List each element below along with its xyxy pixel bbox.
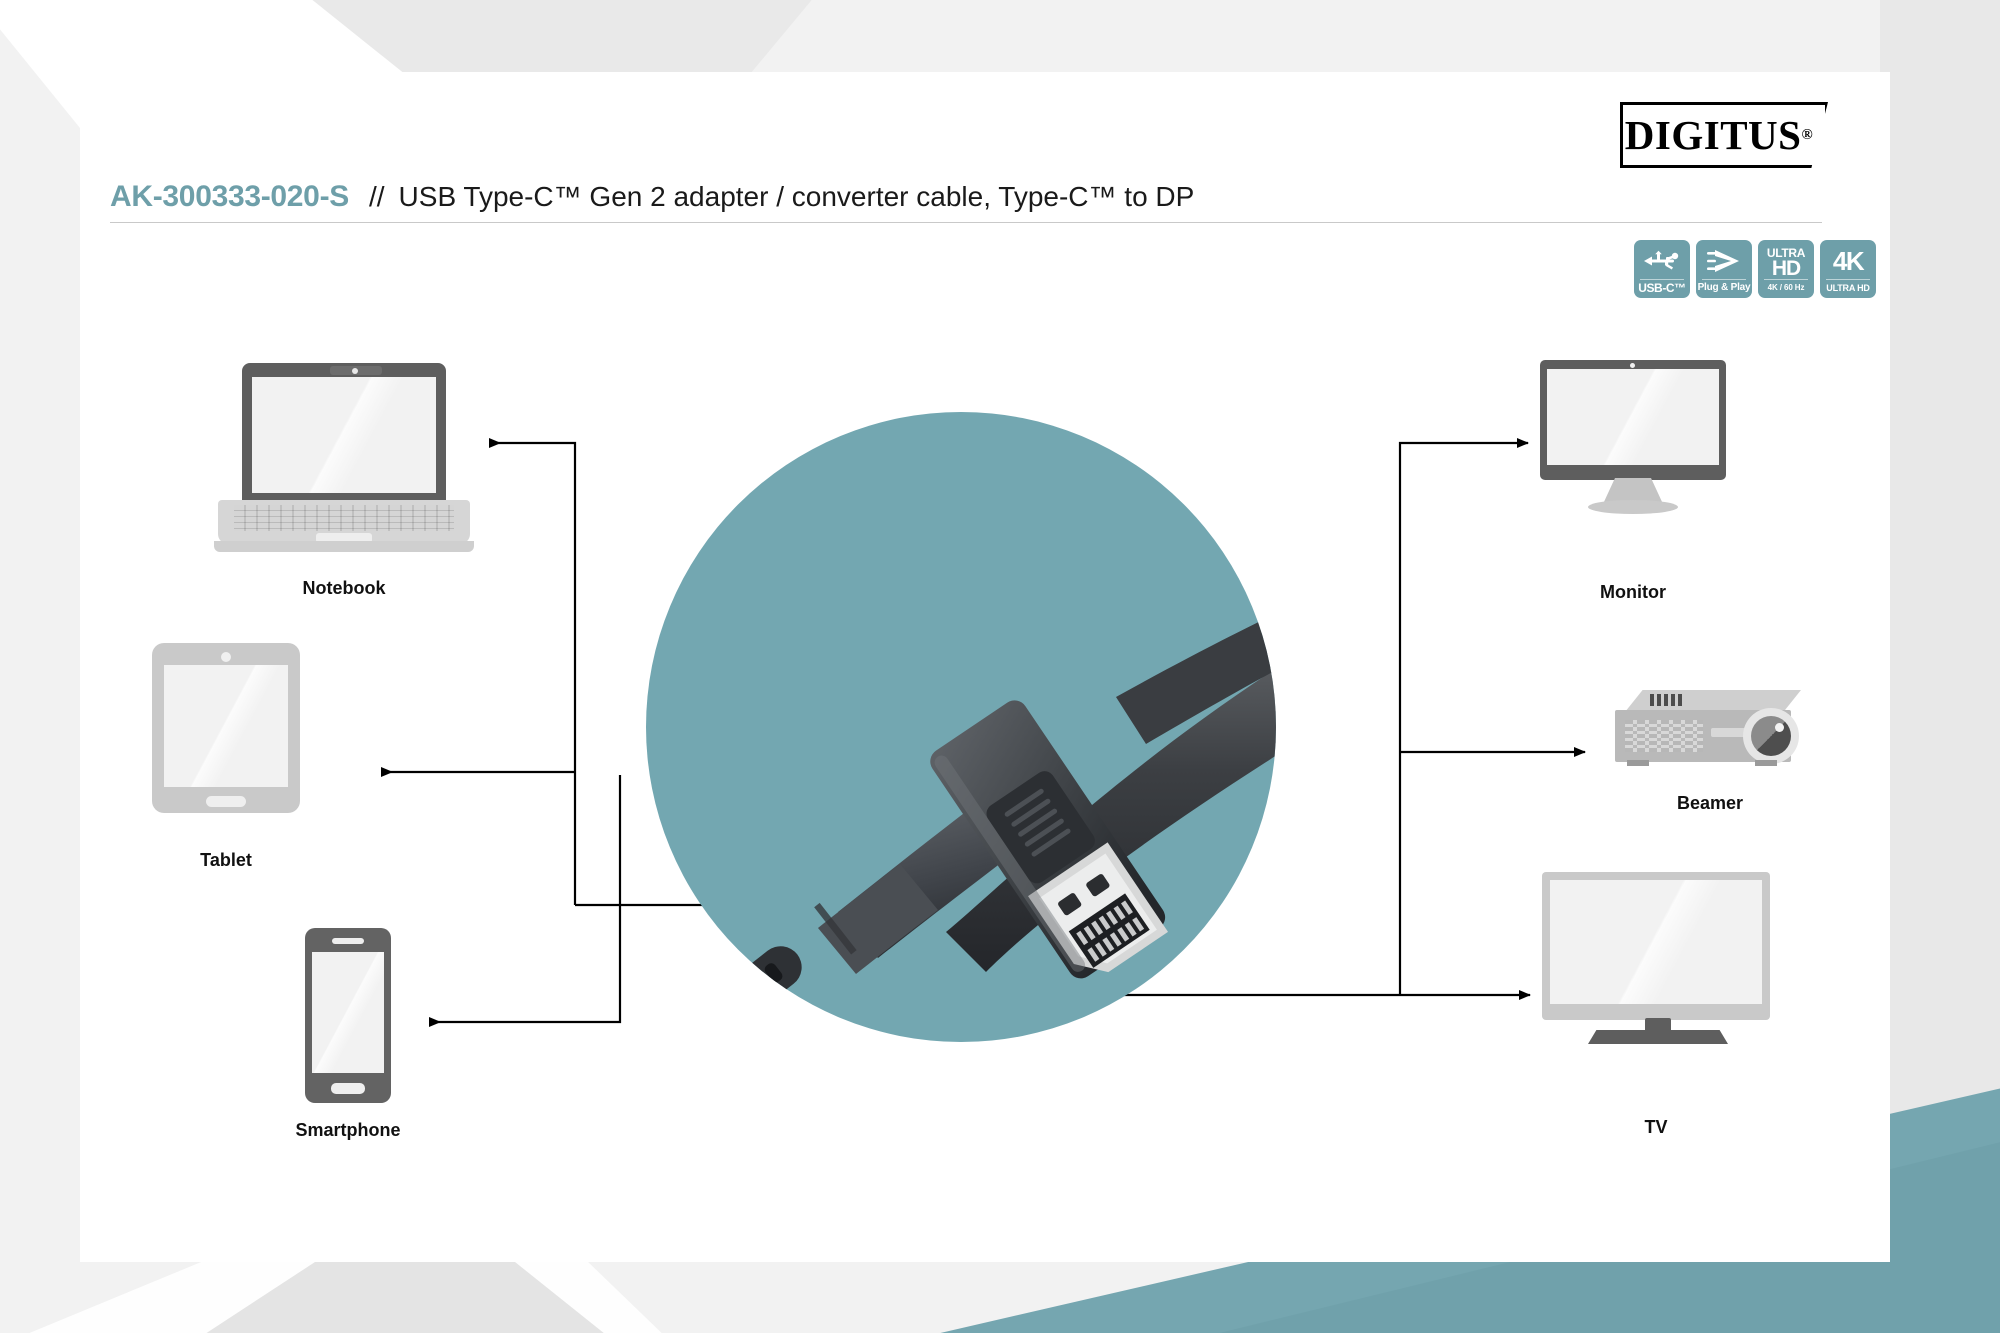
logo-wordmark-text: DIGITUS <box>1625 111 1802 159</box>
notebook-foot <box>214 541 474 552</box>
notebook-keyboard <box>234 505 454 531</box>
logo-registered-mark: ® <box>1801 127 1813 144</box>
smartphone-home-button <box>331 1083 365 1094</box>
badge-caption: Plug & Play <box>1696 281 1752 298</box>
screen-glare <box>1550 880 1762 1004</box>
badge-caption: 4K / 60 Hz <box>1758 281 1814 298</box>
device-label-smartphone: Smartphone <box>263 1120 433 1141</box>
product-description: USB Type-C™ Gen 2 adapter / converter ca… <box>399 181 1195 213</box>
beamer-lens-glint <box>1775 723 1784 732</box>
badge-caption: USB-C™ <box>1634 281 1690 298</box>
tablet-body <box>152 643 300 813</box>
page-canvas: DIGITUS® AK-300333-020-S // USB Type-C™ … <box>0 0 2000 1333</box>
badge-divider <box>1640 279 1684 280</box>
tablet-home-button <box>206 796 246 807</box>
four-k-art: 4K <box>1820 240 1876 281</box>
logo-wordmark: DIGITUS® <box>1620 102 1828 168</box>
screen-glare <box>312 952 384 1073</box>
device-label-notebook: Notebook <box>218 578 470 599</box>
smartphone-screen <box>312 952 384 1073</box>
ultra-hd-big-text: HD <box>1772 259 1800 278</box>
badge-plug-and-play: Plug & Play <box>1696 240 1752 298</box>
camera-icon <box>352 368 358 374</box>
screen-glare <box>164 665 288 787</box>
product-sku: AK-300333-020-S <box>110 180 349 214</box>
device-label-tv: TV <box>1542 1117 1770 1138</box>
tv-frame <box>1542 872 1770 1020</box>
play-arrow-icon <box>1696 240 1752 281</box>
badge-divider <box>1764 279 1808 280</box>
tv-stand-neck <box>1645 1018 1671 1032</box>
device-label-tablet: Tablet <box>152 850 300 871</box>
badge-ultra-hd: ULTRA HD 4K / 60 Hz <box>1758 240 1814 298</box>
title-separator: // <box>349 181 399 213</box>
beamer-vent-grill <box>1650 694 1684 706</box>
page-title: AK-300333-020-S // USB Type-C™ Gen 2 ada… <box>110 180 1194 214</box>
tv-screen <box>1550 880 1762 1004</box>
digitus-logo: DIGITUS® <box>1620 102 1828 168</box>
tablet-screen <box>164 665 288 787</box>
bg-band-right-grey <box>1880 0 2000 1200</box>
tv-stand-base <box>1588 1030 1728 1044</box>
monitor-frame <box>1540 360 1726 480</box>
feature-badges: USB-C™ Plug & Play ULTRA HD <box>1634 240 1876 298</box>
beamer-foot-left <box>1627 760 1649 766</box>
beamer-foot-right <box>1755 760 1777 766</box>
badge-divider <box>1826 279 1870 280</box>
device-label-beamer: Beamer <box>1615 793 1805 814</box>
device-notebook <box>218 363 470 553</box>
beamer-side-vents <box>1625 720 1703 752</box>
badge-4k: 4K ULTRA HD <box>1820 240 1876 298</box>
usb-icon <box>1634 240 1690 281</box>
screen-glare <box>252 377 436 493</box>
badge-divider <box>1702 279 1746 280</box>
device-monitor <box>1540 360 1726 516</box>
device-beamer <box>1615 690 1805 770</box>
header-divider <box>110 222 1822 223</box>
smartphone-body <box>305 928 391 1103</box>
beamer-lens <box>1751 716 1791 756</box>
monitor-screen <box>1547 369 1719 465</box>
badge-caption: ULTRA HD <box>1820 281 1876 298</box>
device-tv <box>1542 872 1770 1047</box>
ultra-hd-art: ULTRA HD <box>1758 240 1814 281</box>
notebook-lid <box>242 363 446 503</box>
screen-glare <box>1547 369 1719 465</box>
notebook-screen <box>252 377 436 493</box>
monitor-stand-base <box>1588 500 1678 514</box>
device-smartphone <box>305 928 391 1103</box>
device-tablet <box>152 643 300 813</box>
camera-icon <box>1630 363 1635 368</box>
speaker-icon <box>332 938 364 944</box>
camera-icon <box>221 652 231 662</box>
badge-usb-c: USB-C™ <box>1634 240 1690 298</box>
device-label-monitor: Monitor <box>1540 582 1726 603</box>
product-cable-image <box>646 412 1276 1042</box>
four-k-big-text: 4K <box>1833 248 1863 274</box>
